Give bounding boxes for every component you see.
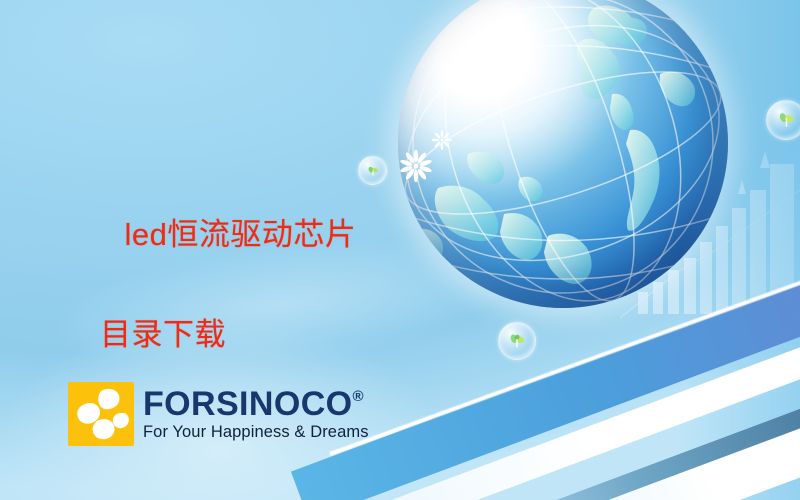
title-line-1: led恒流驱动芯片 [124,217,356,252]
pinwheel-icon [506,330,528,352]
four-petal-pinwheel-icon [68,382,134,446]
logo-tagline: For Your Happiness & Dreams [143,424,369,441]
logo-mark [68,382,134,446]
logo-wordmark: FORSINOCO ® [143,388,369,420]
pinwheel-icon [775,109,798,132]
logo-text-block: FORSINOCO ® For Your Happiness & Dreams [143,388,369,441]
brand-logo: FORSINOCO ® For Your Happiness & Dreams [68,382,369,446]
bubble-pinwheel-medium [498,322,536,360]
bubble-pinwheel-small [358,156,387,185]
slide-canvas: led恒流驱动芯片 目录下载 FORSINOCO ® For Your Happ… [0,0,800,500]
title-line-2: 目录下载 [88,310,356,360]
logo-wordmark-text: FORSINOCO [143,388,353,420]
bubble-pinwheel-edge [766,100,800,140]
pinwheel-icon [365,163,381,179]
registered-trademark-icon: ® [353,389,364,404]
